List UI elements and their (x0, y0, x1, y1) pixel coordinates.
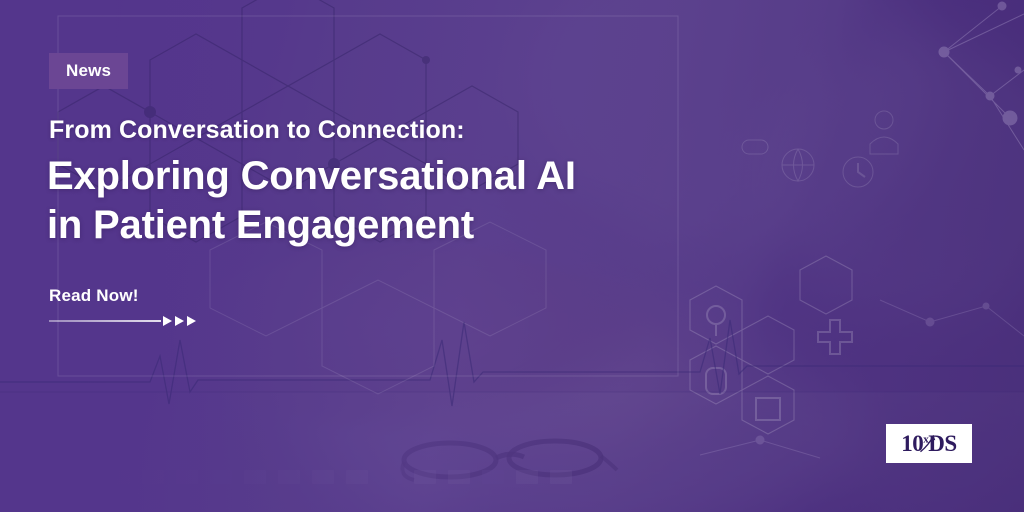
read-now-label: Read Now! (49, 286, 189, 306)
read-now-cta[interactable]: Read Now! (49, 286, 189, 326)
chevron-right-icon (175, 316, 184, 326)
logo-number: 10 (901, 431, 923, 456)
subtitle: From Conversation to Connection: (49, 116, 465, 145)
left-medical-icons (742, 111, 898, 187)
news-badge[interactable]: News (49, 53, 128, 89)
chevron-right-icon (187, 316, 196, 326)
pill-capsule-icon (742, 140, 768, 154)
network-nodes-lower-icon (700, 300, 1024, 458)
tech-overlay-graphics (0, 0, 1024, 512)
logo-letters: DS (928, 431, 956, 456)
chevron-right-icon (163, 316, 172, 326)
network-nodes-icon (939, 2, 1024, 150)
medical-hexagon-icons (690, 256, 852, 434)
news-banner: News From Conversation to Connection: Ex… (0, 0, 1024, 512)
doctor-body-icon (870, 137, 898, 154)
cta-arrow-rule (49, 316, 189, 326)
cta-line (49, 320, 161, 322)
page-title: Exploring Conversational AI in Patient E… (47, 152, 576, 250)
ekg-heartbeat-line-icon (0, 320, 1024, 406)
medical-cross-icon (818, 320, 852, 354)
brand-logo[interactable]: 10xDS (886, 424, 972, 463)
location-pin-icon (707, 306, 725, 336)
document-icon (756, 398, 780, 420)
logo-text: 10xDS (901, 432, 956, 455)
doctor-head-icon (875, 111, 893, 129)
